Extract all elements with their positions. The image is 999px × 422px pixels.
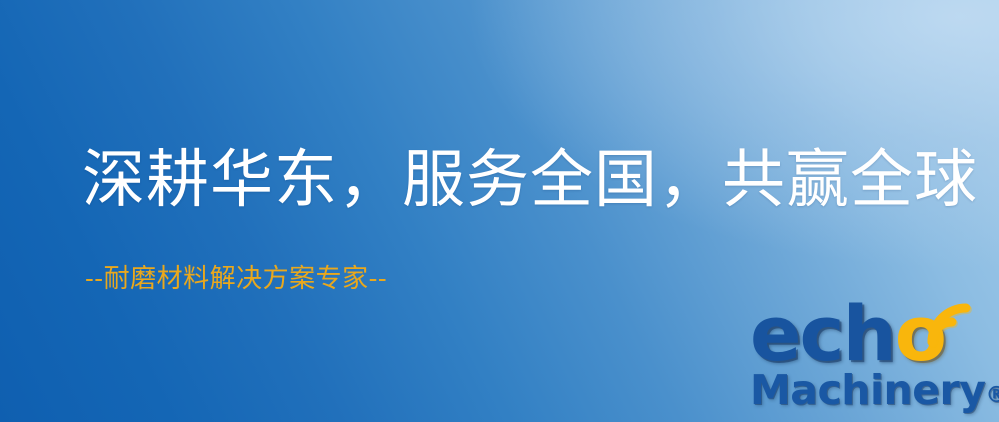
logo-tagline: Machinery® — [750, 370, 999, 416]
logo-brand-text: echo — [750, 296, 945, 372]
registered-trademark-icon: ® — [985, 383, 999, 408]
logo-wordmark: echo — [748, 292, 999, 372]
echo-machinery-logo[interactable]: echo Machinery® — [748, 292, 999, 422]
logo-tagline-text: Machinery — [750, 366, 985, 414]
banner-subtitle: --耐磨材料解决方案专家-- — [85, 266, 387, 292]
wifi-signal-arcs-icon — [922, 290, 984, 352]
banner-headline: 深耕华东，服务全国，共赢全球 — [82, 148, 978, 211]
logo-brand-prefix: ech — [750, 289, 895, 378]
hero-banner: 深耕华东，服务全国，共赢全球 --耐磨材料解决方案专家-- echo Machi… — [0, 0, 999, 422]
